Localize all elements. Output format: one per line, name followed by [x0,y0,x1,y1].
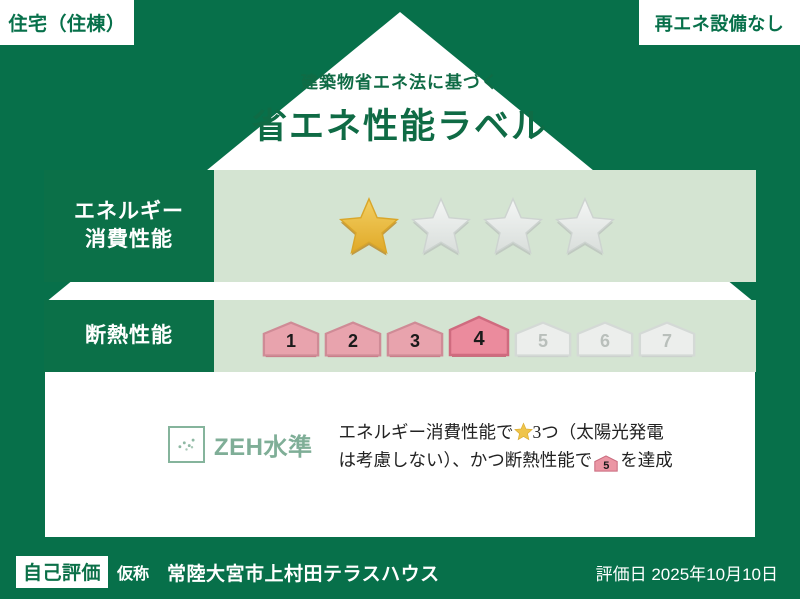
inline-house-number: 5 [594,455,618,477]
title-block: 建築物省エネ法に基づく 省エネ性能ラベル [0,68,800,149]
insulation-performance-value: 1234567 [214,300,756,372]
zeh-note-block: ZEH水準 エネルギー消費性能で3つ（太陽光発電 は考慮しない）、かつ断熱性能で… [44,418,756,475]
star-empty-icon [554,195,616,257]
zeh-desc-part3: は考慮しない）、かつ断熱性能で [339,450,593,470]
zeh-label: ZEH水準 [214,427,313,462]
energy-performance-value [214,170,756,282]
zeh-desc-part1: エネルギー消費性能で [339,422,514,442]
provisional-name-label: 仮称 [117,560,149,584]
insulation-step-6: 6 [576,320,634,358]
insulation-step-4: 4 [448,314,510,358]
insulation-step-number: 6 [600,331,610,358]
energy-label-line2: 消費性能 [85,226,173,254]
inline-star-icon [514,422,533,441]
insulation-step-number: 1 [286,331,296,358]
insulation-step-7: 7 [638,320,696,358]
insulation-scale: 1234567 [262,314,696,358]
insulation-label-text: 断熱性能 [85,322,173,350]
title-subtitle: 建築物省エネ法に基づく [0,68,800,93]
zeh-desc-part2: 3つ（太陽光発電 [533,422,664,442]
insulation-step-3: 3 [386,320,444,358]
insulation-step-1: 1 [262,320,320,358]
insulation-step-2: 2 [324,320,382,358]
building-name: 常陸大宮市上村田テラスハウス [167,559,440,586]
insulation-step-number: 5 [538,331,548,358]
energy-performance-label: エネルギー 消費性能 [44,170,214,282]
zeh-badge: ZEH水準 [44,418,313,463]
zeh-description: エネルギー消費性能で3つ（太陽光発電 は考慮しない）、かつ断熱性能で5を達成 [313,418,757,475]
inline-house-icon: 5 [594,455,618,472]
insulation-performance-label: 断熱性能 [44,300,214,372]
footer-bar: 自己評価 仮称 常陸大宮市上村田テラスハウス 評価日 2025年10月10日 [0,545,800,599]
insulation-performance-row: 断熱性能 1234567 [44,300,756,372]
zeh-desc-part4: を達成 [620,450,673,470]
insulation-step-number: 2 [348,331,358,358]
star-rating [338,195,616,257]
insulation-step-number: 7 [662,331,672,358]
insulation-step-5: 5 [514,320,572,358]
renewable-energy-tag: 再エネ設備なし [639,0,800,45]
zeh-sparkle-icon [168,426,205,463]
energy-performance-label: 住宅（住棟） 再エネ設備なし 建築物省エネ法に基づく 省エネ性能ラベル エネルギ… [0,0,800,599]
star-filled-icon [338,195,400,257]
star-empty-icon [410,195,472,257]
evaluation-type-badge: 自己評価 [16,556,108,588]
insulation-step-number: 3 [410,331,420,358]
energy-performance-row: エネルギー 消費性能 [44,170,756,282]
star-empty-icon [482,195,544,257]
page-title: 省エネ性能ラベル [0,98,800,149]
building-type-tag: 住宅（住棟） [0,0,134,45]
energy-label-line1: エネルギー [74,198,184,226]
insulation-step-number: 4 [473,328,484,358]
evaluation-date: 評価日 2025年10月10日 [596,560,778,585]
